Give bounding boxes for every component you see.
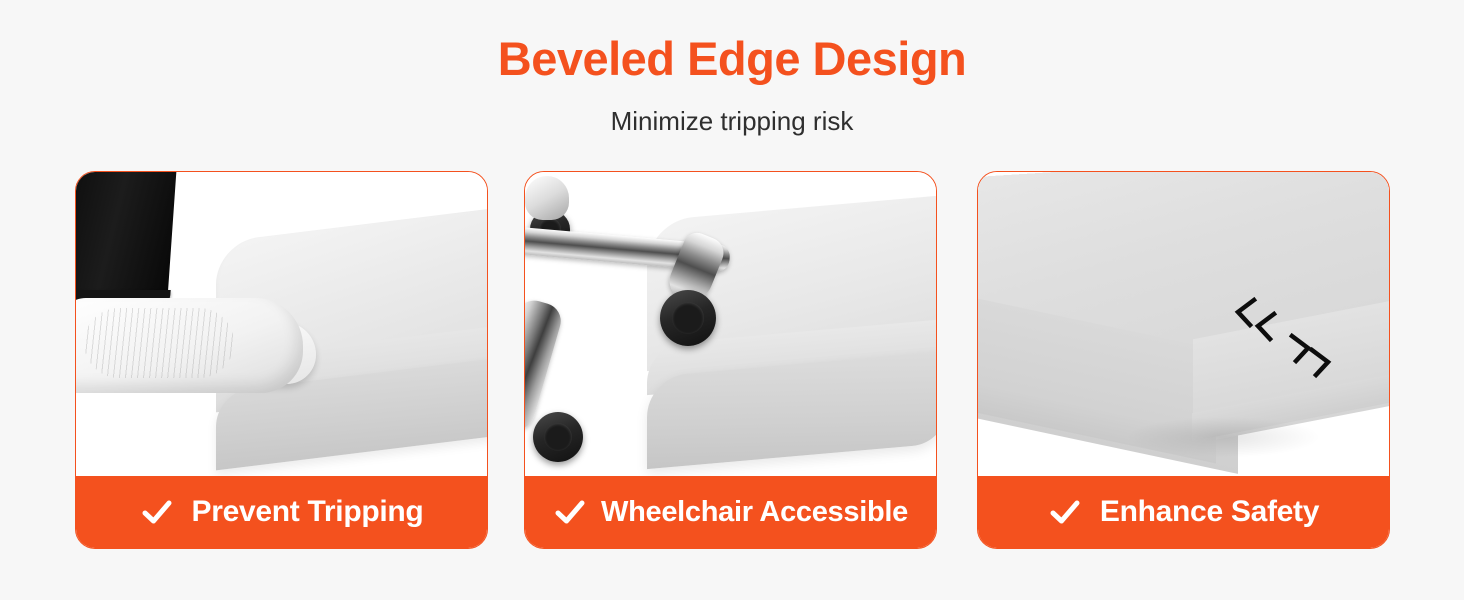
feature-image-wheelchair-accessible	[525, 172, 936, 477]
caption-label: Prevent Tripping	[192, 495, 424, 529]
chrome-caster-cap	[525, 176, 569, 220]
promo-banner: Beveled Edge Design Minimize tripping ri…	[0, 0, 1464, 600]
caption-label: Wheelchair Accessible	[601, 496, 908, 529]
caption-bar-prevent-tripping: Prevent Tripping	[76, 476, 487, 548]
white-sock-foot	[76, 298, 303, 393]
check-icon	[140, 495, 174, 529]
caster-wheel-lower	[533, 412, 583, 462]
feature-card-enhance-safety[interactable]: Enhance Safety	[977, 171, 1390, 549]
feature-image-prevent-tripping	[76, 172, 487, 477]
caption-bar-enhance-safety: Enhance Safety	[978, 476, 1389, 548]
feature-card-wheelchair-accessible[interactable]: Wheelchair Accessible	[524, 171, 937, 549]
page-subtitle: Minimize tripping risk	[0, 106, 1464, 137]
caption-label: Enhance Safety	[1100, 495, 1319, 529]
check-icon	[1048, 495, 1082, 529]
caster-wheel-main	[660, 290, 716, 346]
pant-leg	[76, 172, 177, 300]
corner-shadow	[1128, 417, 1318, 457]
page-title: Beveled Edge Design	[0, 33, 1464, 85]
bevel-direction-chevrons-icon	[1230, 292, 1340, 382]
caption-bar-wheelchair-accessible: Wheelchair Accessible	[525, 476, 936, 548]
feature-image-enhance-safety	[978, 172, 1389, 477]
feature-card-prevent-tripping[interactable]: Prevent Tripping	[75, 171, 488, 549]
check-icon	[553, 495, 587, 529]
